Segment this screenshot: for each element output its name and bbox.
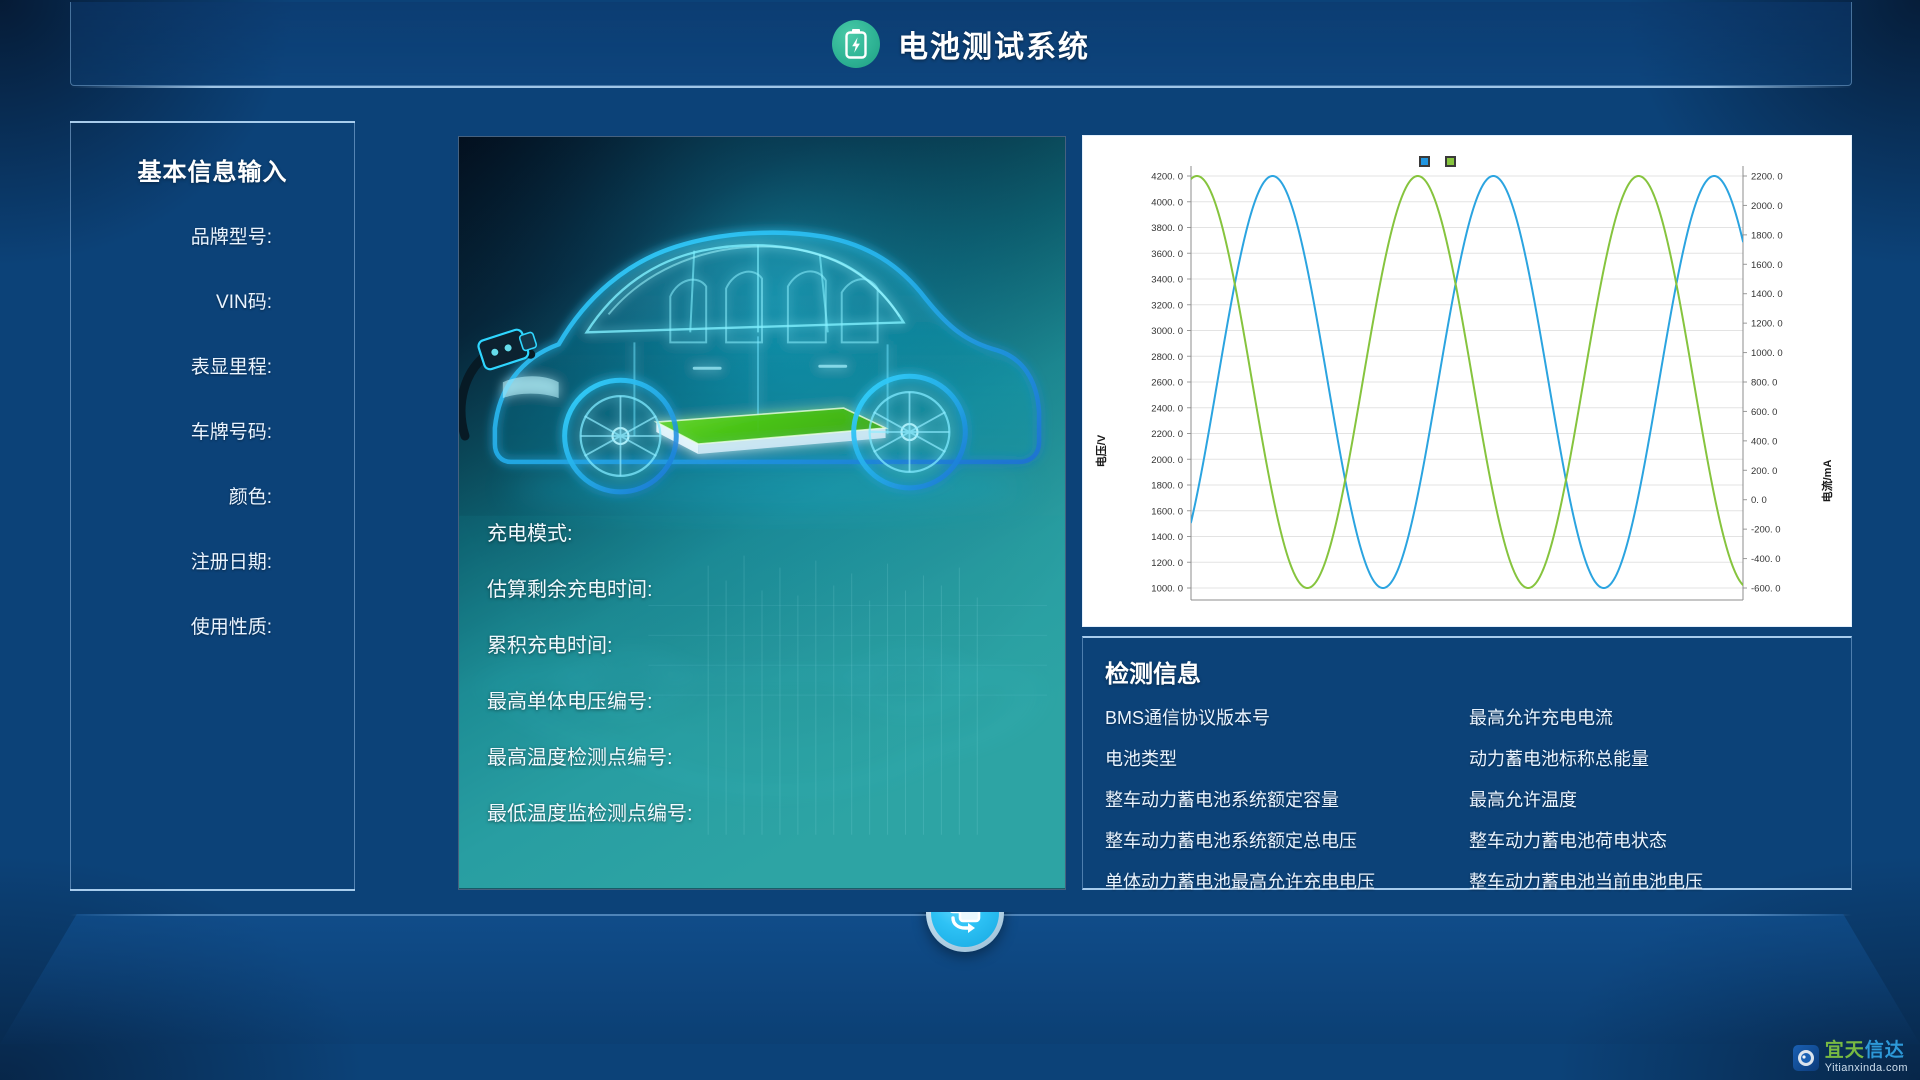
- field-label-register-date: 注册日期:: [191, 547, 272, 574]
- chart-y-tick-label: 1200. 0: [1151, 558, 1183, 569]
- field-label-brand-model: 品牌型号:: [191, 222, 272, 249]
- info-max-allowed-charge-current[interactable]: 最高允许充电电流: [1469, 704, 1833, 730]
- param-accumulated-time: 累积充电时间:: [487, 629, 1047, 658]
- chart-y2-tick-label: 800. 0: [1751, 378, 1777, 389]
- field-input-brand-model[interactable]: [278, 218, 334, 244]
- charging-parameters: 充电模式: 估算剩余充电时间: 累积充电时间: 最高单体电压编号: 最高温度检测…: [487, 517, 1047, 853]
- info-nominal-total-energy[interactable]: 动力蓄电池标称总能量: [1469, 745, 1833, 771]
- field-label-plate-number: 车牌号码:: [191, 417, 272, 444]
- chart-y2-tick-label: 2000. 0: [1751, 201, 1783, 212]
- chart-y-axis-left-title: 电压/V: [1094, 434, 1108, 467]
- chart-y-tick-label: 1600. 0: [1151, 506, 1183, 517]
- field-label-vin: VIN码:: [216, 287, 272, 314]
- field-label-usage-type: 使用性质:: [191, 612, 272, 639]
- chart-y-tick-label: 1000. 0: [1151, 584, 1183, 595]
- field-label-color: 颜色:: [229, 482, 272, 509]
- watermark-glyph: [1797, 1049, 1815, 1067]
- chart-y2-tick-label: 1000. 0: [1751, 348, 1783, 359]
- watermark-texts: 宜天信达 Yitianxinda.com: [1825, 1041, 1908, 1074]
- page-title: 电池测试系统: [898, 22, 1090, 66]
- param-max-temp-probe-no: 最高温度检测点编号:: [487, 741, 1047, 770]
- chart-y-tick-label: 3800. 0: [1151, 223, 1183, 234]
- chart-y-tick-label: 1400. 0: [1151, 532, 1183, 543]
- chart-y2-tick-label: 600. 0: [1751, 407, 1777, 418]
- measurement-chart-panel: 1000. 01200. 01400. 01600. 01800. 02000.…: [1082, 135, 1852, 627]
- field-input-usage-type[interactable]: [278, 608, 334, 634]
- battery-glyph: [844, 29, 868, 59]
- chart-y-tick-label: 3400. 0: [1151, 275, 1183, 286]
- chart-y2-tick-label: 1200. 0: [1751, 319, 1783, 330]
- footer-plinth: 宜天信达 Yitianxinda.com: [0, 912, 1920, 1080]
- watermark-brand-cn-part2: 信达: [1865, 1040, 1905, 1061]
- param-estimated-remaining: 估算剩余充电时间:: [487, 573, 1047, 602]
- chart-y-axis-right-title: 电流/mA: [1820, 460, 1834, 503]
- field-input-color[interactable]: [278, 478, 334, 504]
- field-input-register-date[interactable]: [278, 543, 334, 569]
- chart-y2-tick-label: 400. 0: [1751, 436, 1777, 447]
- chart-y-tick-label: 2400. 0: [1151, 403, 1183, 414]
- watermark-brand-cn: 宜天信达: [1825, 1041, 1908, 1060]
- detection-info-panel: 检测信息 BMS通信协议版本号 最高允许充电电流 电池类型 动力蓄电池标称总能量…: [1082, 636, 1852, 890]
- switch-windows-icon: [944, 912, 986, 934]
- vehicle-visual-panel: 充电模式: 估算剩余充电时间: 累积充电时间: 最高单体电压编号: 最高温度检测…: [458, 136, 1066, 890]
- chart-y-tick-label: 2000. 0: [1151, 455, 1183, 466]
- field-input-odometer[interactable]: [278, 348, 334, 374]
- app-header: 电池测试系统: [70, 2, 1852, 86]
- chart-y-tick-label: 2800. 0: [1151, 352, 1183, 363]
- chart-y-tick-label: 4200. 0: [1151, 172, 1183, 183]
- chart-y2-tick-label: -400. 0: [1751, 554, 1781, 565]
- info-bms-protocol-version[interactable]: BMS通信协议版本号: [1105, 704, 1469, 730]
- battery-icon: [832, 20, 880, 68]
- info-rated-total-voltage[interactable]: 整车动力蓄电池系统额定总电压: [1105, 827, 1469, 853]
- header-content: 电池测试系统: [71, 2, 1851, 85]
- chart-y-tick-label: 4000. 0: [1151, 197, 1183, 208]
- watermark-brand-en: Yitianxinda.com: [1825, 1063, 1908, 1074]
- header-divider: [70, 86, 1852, 88]
- param-max-cell-voltage-no: 最高单体电压编号:: [487, 685, 1047, 714]
- chart-y2-tick-label: -600. 0: [1751, 584, 1781, 595]
- param-min-temp-probe-no: 最低温度监检测点编号:: [487, 797, 1047, 826]
- chart-y-tick-label: 3200. 0: [1151, 300, 1183, 311]
- info-battery-type[interactable]: 电池类型: [1105, 745, 1469, 771]
- field-input-plate-number[interactable]: [278, 413, 334, 439]
- chart-y-tick-label: 2200. 0: [1151, 429, 1183, 440]
- watermark: 宜天信达 Yitianxinda.com: [1793, 1041, 1908, 1074]
- chart-y-tick-label: 1800. 0: [1151, 481, 1183, 492]
- switch-view-button-face: [931, 912, 999, 947]
- chart-y-tick-label: 3600. 0: [1151, 249, 1183, 260]
- chart-y-tick-label: 2600. 0: [1151, 378, 1183, 389]
- info-cell-max-charge-voltage[interactable]: 单体动力蓄电池最高允许充电电压: [1105, 868, 1469, 894]
- field-label-odometer: 表显里程:: [191, 352, 272, 379]
- chart-y-tick-label: 3000. 0: [1151, 326, 1183, 337]
- detection-info-title: 检测信息: [1105, 654, 1201, 689]
- info-rated-capacity[interactable]: 整车动力蓄电池系统额定容量: [1105, 786, 1469, 812]
- chart-y2-tick-label: -200. 0: [1751, 525, 1781, 536]
- basic-info-title: 基本信息输入: [71, 152, 354, 187]
- param-charge-mode: 充电模式:: [487, 517, 1047, 546]
- chart-y2-tick-label: 1400. 0: [1751, 289, 1783, 300]
- chart-y2-tick-label: 1600. 0: [1751, 260, 1783, 271]
- chart-y2-tick-label: 2200. 0: [1751, 172, 1783, 183]
- measurement-chart[interactable]: 1000. 01200. 01400. 01600. 01800. 02000.…: [1083, 136, 1851, 626]
- chart-y2-tick-label: 200. 0: [1751, 466, 1777, 477]
- detection-info-grid: BMS通信协议版本号 最高允许充电电流 电池类型 动力蓄电池标称总能量 整车动力…: [1105, 704, 1833, 894]
- chart-y2-tick-label: 1800. 0: [1751, 230, 1783, 241]
- field-input-vin[interactable]: [278, 283, 334, 309]
- watermark-brand-cn-part1: 宜天: [1825, 1040, 1865, 1061]
- watermark-logo-icon: [1793, 1045, 1819, 1071]
- chart-y2-tick-label: 0. 0: [1751, 495, 1767, 506]
- basic-info-panel: 基本信息输入 品牌型号: VIN码: 表显里程: 车牌号码: 颜色: 注册日期:…: [70, 122, 355, 890]
- info-state-of-charge[interactable]: 整车动力蓄电池荷电状态: [1469, 827, 1833, 853]
- chart-legend-swatch-1: [1421, 158, 1428, 165]
- info-current-battery-voltage[interactable]: 整车动力蓄电池当前电池电压: [1469, 868, 1833, 894]
- info-max-allowed-temperature[interactable]: 最高允许温度: [1469, 786, 1833, 812]
- chart-legend-swatch-2: [1447, 158, 1454, 165]
